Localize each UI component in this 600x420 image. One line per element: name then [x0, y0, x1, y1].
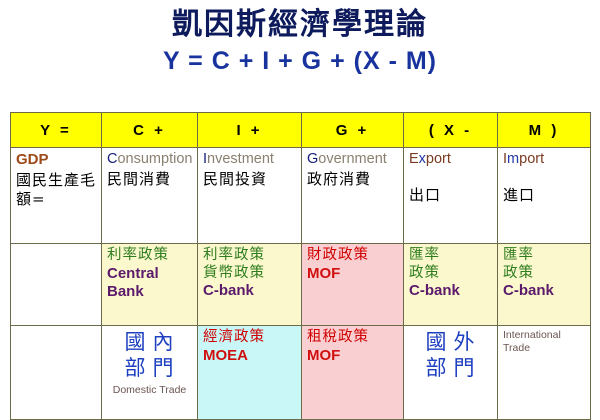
export-mid: x: [419, 151, 426, 167]
government-rest: overnment: [318, 151, 387, 167]
cell-y-sector: [11, 326, 102, 420]
consumption-cn: 民間消費: [107, 170, 192, 189]
c-sector-cn-line1: 國內: [107, 329, 192, 355]
m-policy-en: C-bank: [503, 282, 585, 300]
government-initial: G: [307, 151, 318, 167]
export-rest: port: [426, 151, 451, 167]
cell-i-sector: 經濟政策 MOEA: [198, 326, 302, 420]
cell-x-definition: Export 出口: [404, 148, 498, 244]
import-mid: m: [507, 151, 519, 167]
header-cell-c: C +: [102, 113, 198, 148]
m-sector-sub-line1: International: [503, 329, 585, 342]
cell-m-sector: International Trade: [498, 326, 591, 420]
government-en: Government: [307, 151, 398, 168]
g-policy-en: MOF: [307, 265, 398, 283]
cell-c-policy: 利率政策 Central Bank: [102, 244, 198, 326]
consumption-rest: onsumption: [117, 151, 192, 167]
x-policy-cn-line2: 政策: [409, 265, 492, 283]
g-sector-cn: 租稅政策: [307, 329, 398, 347]
import-cn: 進口: [503, 186, 585, 205]
header-cell-i: I +: [198, 113, 302, 148]
i-policy-en: C-bank: [203, 282, 296, 300]
cell-x-policy: 匯率 政策 C-bank: [404, 244, 498, 326]
cell-c-definition: Consumption 民間消費: [102, 148, 198, 244]
title-block: 凱因斯經濟學理論 Y = C + I + G + (X - M): [0, 0, 600, 77]
government-cn: 政府消費: [307, 170, 398, 189]
table-row-sectors: 國內 部門 Domestic Trade 經濟政策 MOEA 租稅政策 MOF …: [11, 326, 591, 420]
cell-c-sector: 國內 部門 Domestic Trade: [102, 326, 198, 420]
import-rest: port: [519, 151, 544, 167]
m-policy-cn-line2: 政策: [503, 265, 585, 283]
page-title: 凱因斯經濟學理論: [0, 8, 600, 43]
investment-cn: 民間投資: [203, 170, 296, 189]
g-sector-en: MOF: [307, 347, 398, 365]
i-sector-cn: 經濟政策: [203, 329, 296, 347]
c-policy-cn: 利率政策: [107, 247, 192, 265]
i-sector-en: MOEA: [203, 347, 296, 365]
cell-i-definition: Investment 民間投資: [198, 148, 302, 244]
i-policy-cn-line1: 利率政策: [203, 247, 296, 265]
x-sector-cn-line2: 部門: [409, 355, 492, 381]
export-cn: 出口: [409, 186, 492, 205]
header-cell-x: ( X -: [404, 113, 498, 148]
import-en: Import: [503, 151, 585, 168]
gdp-label: GDP: [16, 151, 96, 169]
consumption-initial: C: [107, 151, 117, 167]
export-en: Export: [409, 151, 492, 168]
cell-g-sector: 租稅政策 MOF: [302, 326, 404, 420]
gdp-chinese: 國民生產毛額=: [16, 171, 96, 209]
cell-i-policy: 利率政策 貨幣政策 C-bank: [198, 244, 302, 326]
x-policy-cn-line1: 匯率: [409, 247, 492, 265]
m-sector-sub-line2: Trade: [503, 342, 585, 355]
header-cell-m: M ): [498, 113, 591, 148]
investment-rest: nvestment: [207, 151, 274, 167]
i-policy-cn-line2: 貨幣政策: [203, 265, 296, 283]
x-sector-cn-line1: 國外: [409, 329, 492, 355]
keynes-equation-table: Y = C + I + G + ( X - M ) GDP 國民生產毛額= Co…: [10, 112, 591, 420]
header-cell-g: G +: [302, 113, 404, 148]
cell-m-policy: 匯率 政策 C-bank: [498, 244, 591, 326]
table-row-definitions: GDP 國民生產毛額= Consumption 民間消費 Investment …: [11, 148, 591, 244]
g-policy-cn: 財政政策: [307, 247, 398, 265]
c-sector-sub: Domestic Trade: [107, 384, 192, 396]
cell-g-definition: Government 政府消費: [302, 148, 404, 244]
c-policy-en: Central Bank: [107, 265, 192, 301]
title-formula: Y = C + I + G + (X - M): [0, 45, 600, 78]
header-cell-y: Y =: [11, 113, 102, 148]
cell-m-definition: Import 進口: [498, 148, 591, 244]
m-policy-cn-line1: 匯率: [503, 247, 585, 265]
c-sector-cn-line2: 部門: [107, 355, 192, 381]
table-header-row: Y = C + I + G + ( X - M ): [11, 113, 591, 148]
cell-g-policy: 財政政策 MOF: [302, 244, 404, 326]
cell-y-definition: GDP 國民生產毛額=: [11, 148, 102, 244]
table-row-policies: 利率政策 Central Bank 利率政策 貨幣政策 C-bank 財政政策 …: [11, 244, 591, 326]
x-policy-en: C-bank: [409, 282, 492, 300]
export-initial: E: [409, 151, 419, 167]
cell-y-policy: [11, 244, 102, 326]
consumption-en: Consumption: [107, 151, 192, 168]
slide-canvas: 凱因斯經濟學理論 Y = C + I + G + (X - M) Y = C +…: [0, 0, 600, 420]
investment-en: Investment: [203, 151, 296, 168]
cell-x-sector: 國外 部門: [404, 326, 498, 420]
